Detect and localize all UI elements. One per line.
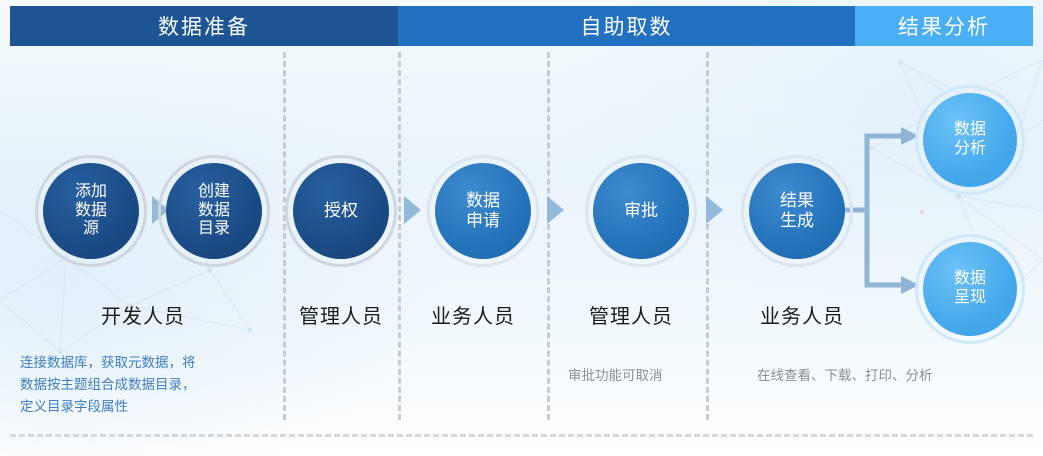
band-label: 数据准备 <box>158 11 250 41</box>
column-separator-1 <box>283 52 286 420</box>
node-label-add-source: 添加 数据 源 <box>75 183 107 239</box>
node-data-analysis[interactable]: 数据 分析 <box>923 93 1017 187</box>
column-separator-2 <box>398 52 401 420</box>
role-label-admin-1: 管理人员 <box>288 300 394 329</box>
node-label-approval: 审批 <box>624 201 658 221</box>
role-label-admin-2: 管理人员 <box>578 300 684 329</box>
node-authorize[interactable]: 授权 <box>293 163 389 259</box>
band-title-self-service: 自助取数 <box>398 6 855 46</box>
description-result-analysis: 在线查看、下载、打印、分析 <box>757 365 997 387</box>
node-approval[interactable]: 审批 <box>593 163 689 259</box>
description-approval: 审批功能可取消 <box>568 365 718 387</box>
node-label-authorize: 授权 <box>324 201 358 221</box>
node-data-present[interactable]: 数据 呈现 <box>923 242 1017 336</box>
role-label-business-1: 业务人员 <box>420 300 526 329</box>
column-separator-3 <box>547 52 550 420</box>
node-add-source[interactable]: 添加 数据 源 <box>43 163 139 259</box>
node-data-request[interactable]: 数据 申请 <box>435 163 531 259</box>
node-label-result-gen: 结果 生成 <box>780 191 814 230</box>
flowchart-diagram: 数据准备 自助取数 结果分析 添加 数据 源 创建 数据 <box>0 0 1043 456</box>
role-label-business-2: 业务人员 <box>742 300 862 329</box>
description-data-preparation: 连接数据库，获取元数据，将 数据按主题组合成数据目录， 定义目录字段属性 <box>20 352 275 418</box>
node-label-data-analysis: 数据 分析 <box>954 121 986 158</box>
node-label-data-request: 数据 申请 <box>466 191 500 230</box>
band-title-data-preparation: 数据准备 <box>10 6 398 46</box>
role-label-developer: 开发人员 <box>43 300 243 329</box>
node-label-create-catalog: 创建 数据 目录 <box>198 183 230 239</box>
node-label-data-present: 数据 呈现 <box>954 270 986 307</box>
node-create-catalog[interactable]: 创建 数据 目录 <box>166 163 262 259</box>
arrow-data-request-to-approval <box>547 196 564 224</box>
node-result-gen[interactable]: 结果 生成 <box>749 163 845 259</box>
bottom-divider <box>10 434 1033 437</box>
band-label: 结果分析 <box>898 11 990 41</box>
arrow-authorize-to-data-request <box>404 196 421 224</box>
band-label: 自助取数 <box>581 11 673 41</box>
band-title-result-analysis: 结果分析 <box>855 6 1033 46</box>
arrow-approval-to-result-gen <box>706 196 723 224</box>
